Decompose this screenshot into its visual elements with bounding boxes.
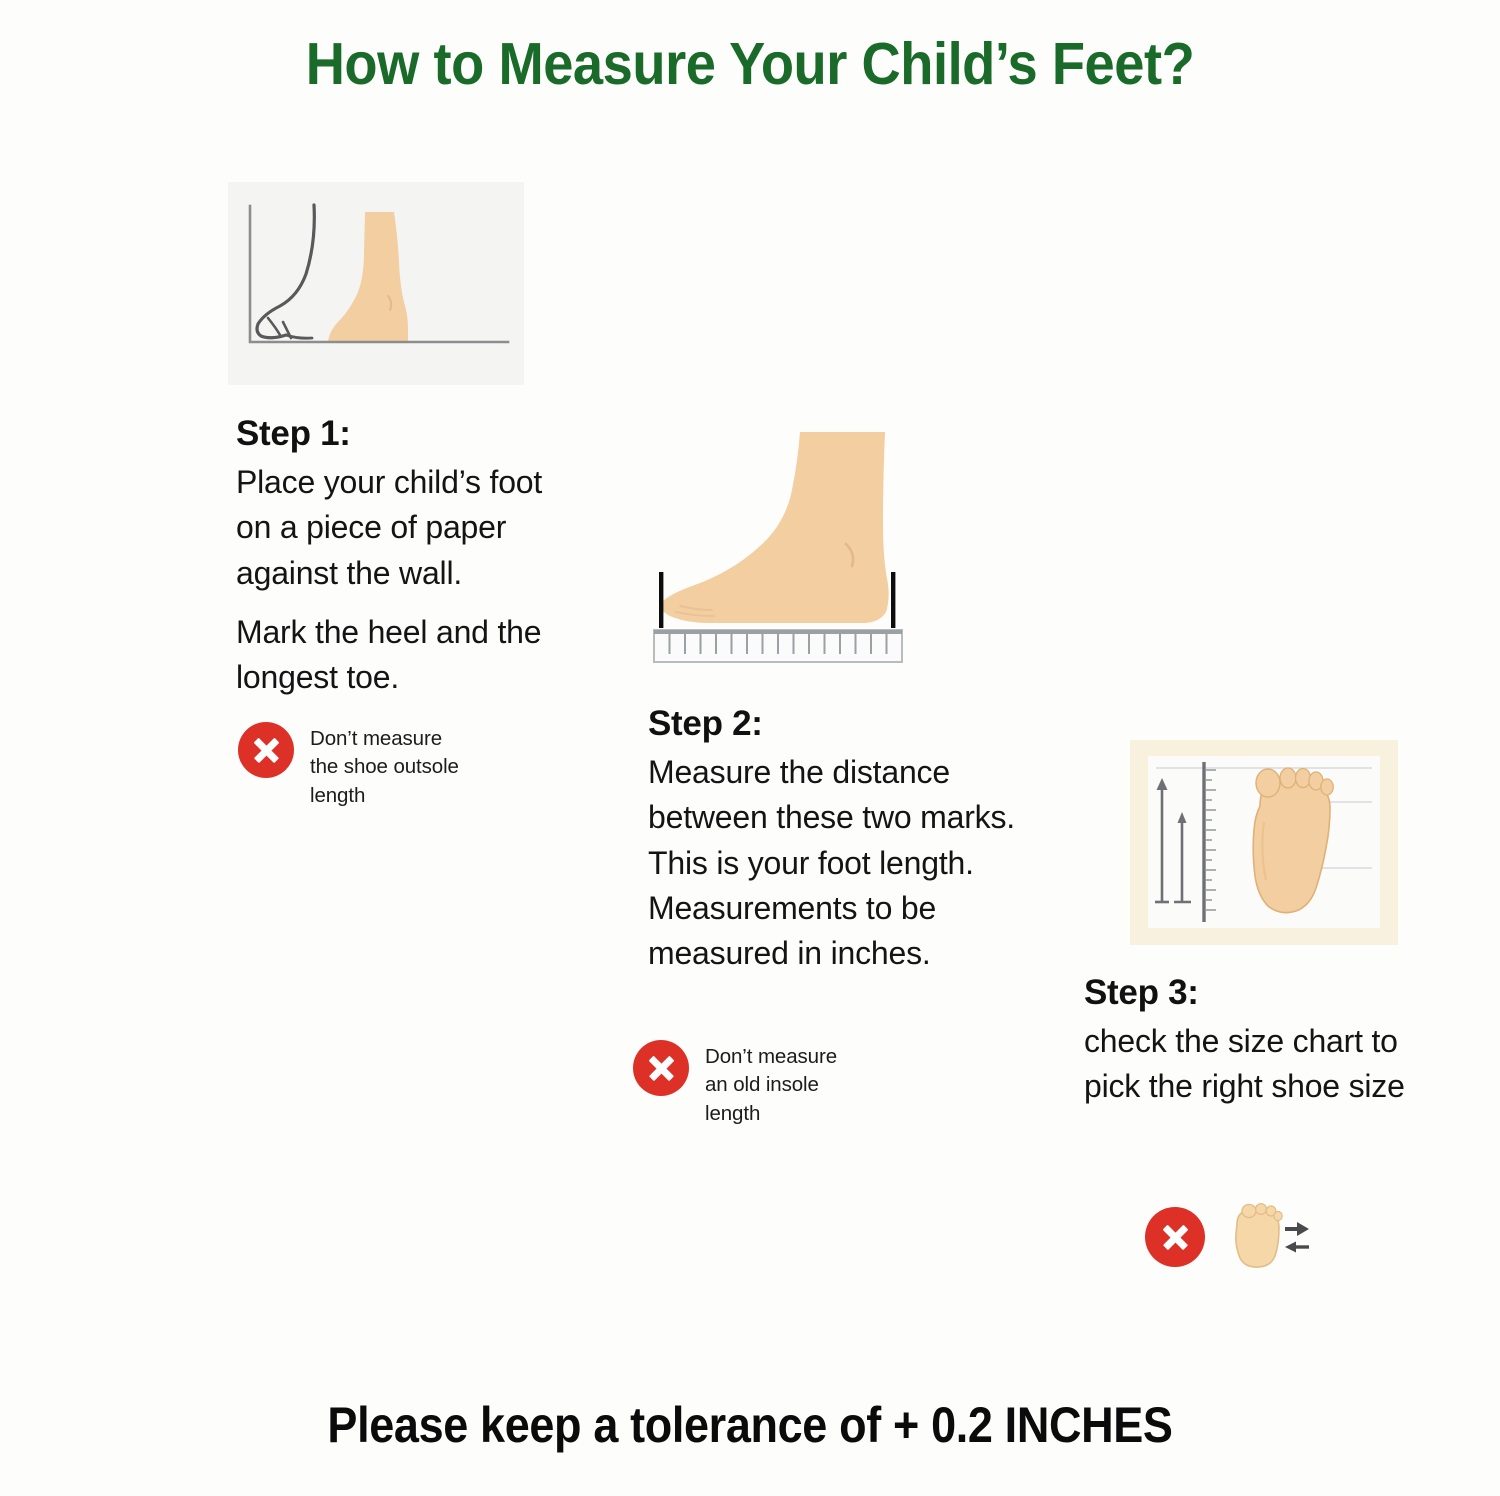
step-1-illustration bbox=[228, 182, 524, 385]
step-1-paragraph-2: Mark the heel and the longest toe. bbox=[236, 610, 556, 701]
step-3-heading: Step 3: bbox=[1084, 972, 1414, 1015]
arrow-right-icon bbox=[1285, 1222, 1309, 1236]
warning-line: Don’t measure bbox=[310, 725, 459, 753]
step-2-paragraph-1: Measure the distance between these two m… bbox=[648, 750, 1078, 977]
page-title: How to Measure Your Child’s Feet? bbox=[60, 30, 1440, 98]
foot-side-view-against-wall-icon bbox=[228, 182, 524, 385]
foot-sole-with-scale-icon bbox=[1148, 756, 1380, 928]
warning-line: an old insole bbox=[705, 1071, 837, 1099]
toe-mark bbox=[659, 572, 663, 628]
foot-sole-icon bbox=[1236, 1209, 1279, 1267]
arrow-up-long-icon bbox=[1155, 778, 1169, 902]
step-3-text-block: Step 3: check the size chart to pick the… bbox=[1084, 972, 1414, 1110]
step-2-text-block: Step 2: Measure the distance between the… bbox=[648, 703, 1078, 977]
red-x-circle-icon bbox=[238, 722, 294, 778]
step-1-warning-text: Don’t measure the shoe outsole length bbox=[310, 722, 459, 810]
step-3-body: check the size chart to pick the right s… bbox=[1084, 1019, 1414, 1110]
red-x-circle-icon bbox=[1145, 1207, 1205, 1267]
step-2-warning-text: Don’t measure an old insole length bbox=[705, 1040, 837, 1128]
step-1-warning: Don’t measure the shoe outsole length bbox=[238, 722, 538, 810]
arrow-up-short-icon bbox=[1174, 812, 1191, 902]
step-2-heading: Step 2: bbox=[648, 703, 1078, 746]
step-3-paragraph-1: check the size chart to pick the right s… bbox=[1084, 1019, 1414, 1110]
step-3-warning bbox=[1145, 1202, 1313, 1272]
step-2-warning: Don’t measure an old insole length bbox=[633, 1040, 933, 1128]
step-3-illustration-inner bbox=[1148, 756, 1380, 928]
step-1-paragraph-1: Place your child’s foot on a piece of pa… bbox=[236, 460, 556, 596]
foot-squeeze-warning-icon bbox=[1223, 1202, 1313, 1272]
step-1-heading: Step 1: bbox=[236, 413, 556, 456]
red-x-circle-icon bbox=[633, 1040, 689, 1096]
infographic-page: How to Measure Your Child’s Feet? Step 1… bbox=[0, 0, 1500, 1496]
step-3-illustration bbox=[1130, 740, 1398, 945]
arrow-left-icon bbox=[1285, 1242, 1309, 1253]
warning-line: length bbox=[705, 1100, 837, 1128]
tolerance-note: Please keep a tolerance of + 0.2 INCHES bbox=[75, 1396, 1425, 1454]
step-1-text-block: Step 1: Place your child’s foot on a pie… bbox=[236, 413, 556, 701]
step-1-body: Place your child’s foot on a piece of pa… bbox=[236, 460, 556, 701]
warning-line: length bbox=[310, 782, 459, 810]
step-2-illustration bbox=[640, 420, 940, 668]
step-2-body: Measure the distance between these two m… bbox=[648, 750, 1078, 977]
heel-mark bbox=[891, 572, 895, 628]
warning-line: the shoe outsole bbox=[310, 753, 459, 781]
warning-line: Don’t measure bbox=[705, 1043, 837, 1071]
foot-on-ruler-icon bbox=[640, 420, 940, 668]
